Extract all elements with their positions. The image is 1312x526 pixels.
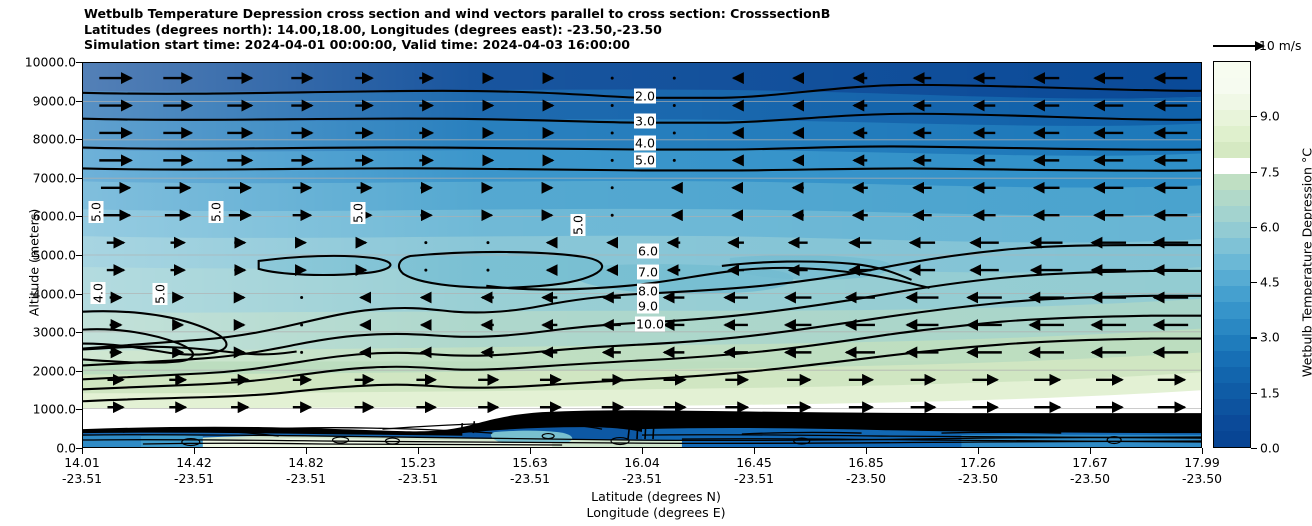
colorbar-tick-mark: [1251, 393, 1257, 394]
x-tick-latitude: 17.26: [918, 455, 1038, 471]
x-tick-latitude: 15.63: [470, 455, 590, 471]
x-tick-longitude: -23.51: [246, 471, 366, 487]
title-line-2: Latitudes (degrees north): 14.00,18.00, …: [84, 22, 1204, 38]
colorbar-band: [1214, 78, 1250, 94]
colorbar-band: [1214, 142, 1250, 158]
contour-label: 6.0: [637, 244, 659, 259]
contour-label: 5.0: [634, 153, 656, 168]
x-tick-label: 15.23-23.51: [358, 455, 478, 487]
x-tick-longitude: -23.51: [22, 471, 142, 487]
x-tick-latitude: 16.45: [694, 455, 814, 471]
colorbar-tick-label: 1.5: [1260, 385, 1280, 400]
wind-vector-calm-dot: [611, 104, 614, 107]
wind-vector-calm-dot: [424, 241, 427, 244]
y-tick-label: 9000.0: [4, 93, 76, 108]
y-tick-mark: [76, 178, 82, 179]
wind-vector-calm-dot: [300, 351, 303, 354]
x-tick-longitude: -23.50: [1142, 471, 1262, 487]
contour-label: 5.0: [351, 202, 366, 224]
x-tick-label: 17.26-23.50: [918, 455, 1038, 487]
wind-vector-calm-dot: [673, 77, 676, 80]
colorbar-band: [1214, 62, 1250, 78]
x-tick-label: 14.82-23.51: [246, 455, 366, 487]
x-tick-label: 16.04-23.51: [582, 455, 702, 487]
colorbar-band: [1214, 126, 1250, 142]
colorbar-tick-mark: [1251, 172, 1257, 173]
x-axis-label-longitude: Longitude (degrees E): [0, 505, 1312, 520]
x-tick-label: 14.01-23.51: [22, 455, 142, 487]
colorbar-band: [1214, 351, 1250, 367]
x-tick-longitude: -23.51: [582, 471, 702, 487]
colorbar-band: [1214, 302, 1250, 318]
wind-vector-calm-dot: [424, 269, 427, 272]
x-tick-latitude: 16.04: [582, 455, 702, 471]
contour-label: 3.0: [634, 114, 656, 129]
x-tick-label: 17.67-23.50: [1030, 455, 1150, 487]
colorbar-band: [1214, 238, 1250, 254]
contour-label: 4.0: [634, 136, 656, 151]
chart-title: Wetbulb Temperature Depression cross sec…: [84, 6, 1204, 53]
wind-vector-calm-dot: [486, 269, 489, 272]
x-tick-longitude: -23.50: [918, 471, 1038, 487]
colorbar-tick-mark: [1251, 282, 1257, 283]
x-tick-label: 16.45-23.51: [694, 455, 814, 487]
y-tick-mark: [76, 139, 82, 140]
colorbar-band: [1214, 254, 1250, 270]
x-tick-mark: [1202, 448, 1203, 454]
colorbar-tick-mark: [1251, 227, 1257, 228]
colorbar-band: [1214, 367, 1250, 383]
wind-vector-calm-dot: [611, 159, 614, 162]
x-tick-label: 17.99-23.50: [1142, 455, 1262, 487]
x-tick-label: 16.85-23.50: [806, 455, 926, 487]
x-tick-mark: [194, 448, 195, 454]
colorbar-band: [1214, 174, 1250, 190]
y-tick-mark: [76, 294, 82, 295]
contour-label: 8.0: [637, 284, 659, 299]
colorbar-band: [1214, 110, 1250, 126]
wind-vector-calm-dot: [300, 323, 303, 326]
contour-label: 5.0: [89, 201, 104, 223]
colorbar-band: [1214, 319, 1250, 335]
y-tick-label: 10000.0: [4, 55, 76, 70]
x-tick-latitude: 14.01: [22, 455, 142, 471]
y-tick-mark: [76, 371, 82, 372]
colorbar-band: [1214, 206, 1250, 222]
wind-vector-calm-dot: [611, 131, 614, 134]
x-tick-label: 14.42-23.51: [134, 455, 254, 487]
colorbar-band: [1214, 222, 1250, 238]
contour-label: 5.0: [571, 214, 586, 236]
x-tick-mark: [418, 448, 419, 454]
y-tick-mark: [76, 409, 82, 410]
colorbar-band: [1214, 286, 1250, 302]
contour-label: 4.0: [91, 282, 106, 304]
colorbar: [1213, 61, 1251, 448]
x-tick-latitude: 14.42: [134, 455, 254, 471]
x-tick-longitude: -23.51: [470, 471, 590, 487]
title-line-3: Simulation start time: 2024-04-01 00:00:…: [84, 37, 1204, 53]
wind-vector-calm-dot: [611, 186, 614, 189]
y-tick-mark: [76, 332, 82, 333]
colorbar-title: Wetbulb Temperature Depression °C: [1300, 113, 1312, 413]
colorbar-band: [1214, 190, 1250, 206]
colorbar-band: [1214, 158, 1250, 174]
x-tick-mark: [306, 448, 307, 454]
y-tick-mark: [76, 62, 82, 63]
wind-vector-calm-dot: [300, 296, 303, 299]
contour-label: 9.0: [637, 299, 659, 314]
x-axis-label-latitude: Latitude (degrees N): [0, 489, 1312, 504]
colorbar-band: [1214, 399, 1250, 415]
colorbar-band: [1214, 383, 1250, 399]
contour-label: 5.0: [209, 201, 224, 223]
x-tick-longitude: -23.51: [134, 471, 254, 487]
colorbar-tick-mark: [1251, 448, 1257, 449]
reference-wind-label: 10 m/s: [1259, 38, 1301, 53]
colorbar-band: [1214, 431, 1250, 447]
colorbar-tick-mark: [1251, 116, 1257, 117]
x-tick-mark: [978, 448, 979, 454]
y-axis-label: Altitude (meters): [27, 133, 42, 393]
colorbar-band: [1214, 335, 1250, 351]
x-tick-longitude: -23.51: [358, 471, 478, 487]
x-tick-latitude: 17.67: [1030, 455, 1150, 471]
y-tick-mark: [76, 101, 82, 102]
y-tick-mark: [76, 255, 82, 256]
colorbar-tick-label: 7.5: [1260, 164, 1280, 179]
y-tick-label: 0.0: [4, 441, 76, 456]
colorbar-tick-label: 9.0: [1260, 109, 1280, 124]
title-line-1: Wetbulb Temperature Depression cross sec…: [84, 6, 1204, 22]
x-tick-longitude: -23.50: [806, 471, 926, 487]
y-tick-mark: [76, 216, 82, 217]
x-tick-mark: [642, 448, 643, 454]
colorbar-band: [1214, 270, 1250, 286]
x-tick-latitude: 17.99: [1142, 455, 1262, 471]
wind-vector-calm-dot: [611, 77, 614, 80]
y-tick-label: 1000.0: [4, 402, 76, 417]
x-tick-latitude: 15.23: [358, 455, 478, 471]
contour-label: 5.0: [153, 283, 168, 305]
colorbar-tick-label: 0.0: [1260, 441, 1280, 456]
x-tick-mark: [530, 448, 531, 454]
colorbar-tick-label: 4.5: [1260, 275, 1280, 290]
colorbar-tick-mark: [1251, 337, 1257, 338]
x-tick-latitude: 14.82: [246, 455, 366, 471]
x-tick-mark: [82, 448, 83, 454]
x-tick-mark: [866, 448, 867, 454]
colorbar-band: [1214, 415, 1250, 431]
colorbar-tick-label: 6.0: [1260, 219, 1280, 234]
contour-label: 2.0: [634, 89, 656, 104]
x-tick-label: 15.63-23.51: [470, 455, 590, 487]
x-tick-mark: [1090, 448, 1091, 454]
x-tick-longitude: -23.51: [694, 471, 814, 487]
wind-vector-calm-dot: [673, 104, 676, 107]
contour-label: 7.0: [637, 265, 659, 280]
wind-vector-calm-dot: [611, 214, 614, 217]
wind-vector-calm-dot: [673, 159, 676, 162]
x-tick-latitude: 16.85: [806, 455, 926, 471]
contour-label: 10.0: [635, 317, 665, 332]
colorbar-band: [1214, 94, 1250, 110]
x-tick-longitude: -23.50: [1030, 471, 1150, 487]
wind-vector-calm-dot: [673, 131, 676, 134]
x-tick-mark: [754, 448, 755, 454]
colorbar-tick-label: 3.0: [1260, 330, 1280, 345]
wind-vector-calm-dot: [486, 241, 489, 244]
